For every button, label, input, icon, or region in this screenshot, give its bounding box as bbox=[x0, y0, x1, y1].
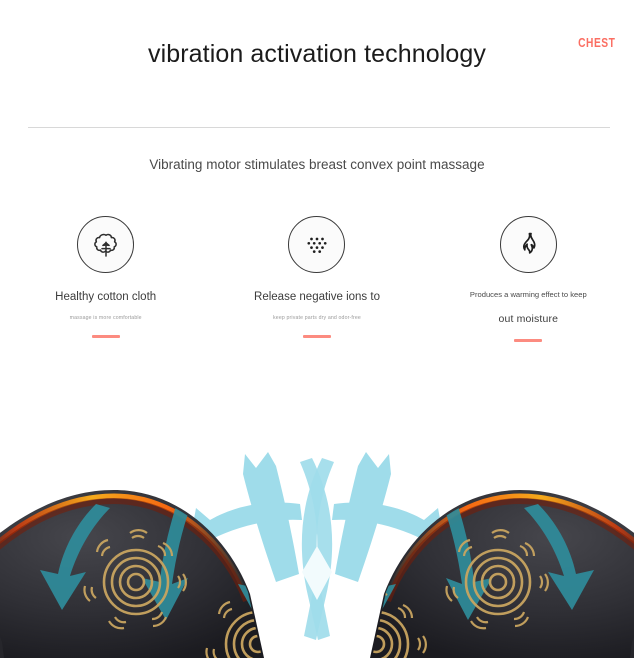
brand-badge: CHEST bbox=[578, 36, 615, 50]
subtitle: Vibrating motor stimulates breast convex… bbox=[0, 157, 634, 172]
feature-item-negative-ions: Release negative ions to keep private pa… bbox=[211, 216, 422, 342]
page-header: vibration activation technology CHEST bbox=[0, 0, 634, 118]
cotton-flower-icon bbox=[77, 216, 134, 273]
feature-line-1: Healthy cotton cloth bbox=[55, 290, 156, 306]
negative-ion-dots-icon bbox=[288, 216, 345, 273]
flame-icon bbox=[500, 216, 557, 273]
feature-line-1: Release negative ions to bbox=[254, 290, 380, 306]
feature-text: Produces a warming effect to keep out mo… bbox=[470, 290, 587, 326]
feature-accent-dash bbox=[514, 339, 542, 342]
feature-accent-dash bbox=[303, 335, 331, 338]
page-title: vibration activation technology bbox=[0, 40, 634, 69]
header-divider bbox=[28, 127, 610, 128]
feature-line-2: out moisture bbox=[470, 312, 587, 326]
product-illustration bbox=[0, 396, 634, 658]
feature-accent-dash bbox=[92, 335, 120, 338]
feature-list: Healthy cotton cloth massage is more com… bbox=[0, 216, 634, 342]
feature-text: Healthy cotton cloth massage is more com… bbox=[55, 290, 156, 322]
feature-line-2: massage is more comfortable bbox=[55, 315, 156, 322]
feature-item-warming: Produces a warming effect to keep out mo… bbox=[423, 216, 634, 342]
feature-line-2: keep private parts dry and odor-free bbox=[254, 315, 380, 322]
feature-line-1: Produces a warming effect to keep bbox=[470, 290, 587, 300]
feature-item-cotton: Healthy cotton cloth massage is more com… bbox=[0, 216, 211, 342]
feature-text: Release negative ions to keep private pa… bbox=[254, 290, 380, 322]
